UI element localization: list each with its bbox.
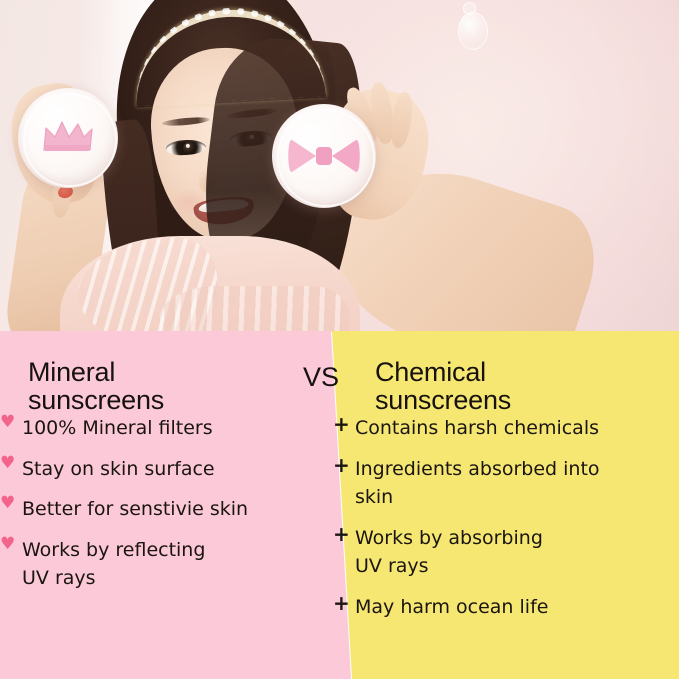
list-item: ♥ Works by reflecting UV rays [0, 536, 332, 593]
soap-bubble-small [463, 2, 476, 15]
heart-icon: ♥ [0, 414, 22, 432]
mineral-panel: Mineral sunscreens ♥ 100% Mineral filter… [0, 331, 332, 605]
heart-icon: ♥ [0, 455, 22, 473]
mineral-benefit-list: ♥ 100% Mineral filters ♥ Stay on skin su… [0, 414, 332, 593]
list-item: + Works by absorbing UV rays [333, 524, 679, 581]
dress-pleats [160, 286, 350, 332]
list-item-text: Stay on skin surface [22, 455, 215, 484]
product-photo [0, 0, 679, 332]
heart-icon: ♥ [0, 495, 22, 513]
heart-icon: ♥ [0, 536, 22, 554]
list-item: ♥ 100% Mineral filters [0, 414, 332, 443]
sunscreen-comparison-infographic: Mineral sunscreens ♥ 100% Mineral filter… [0, 0, 679, 679]
list-item-text: Contains harsh chemicals [355, 414, 599, 443]
list-item: + Ingredients absorbed into skin [333, 455, 679, 512]
plus-icon: + [333, 524, 355, 545]
list-item-text: Works by reflecting UV rays [22, 536, 205, 593]
list-item-text: May harm ocean life [355, 593, 548, 622]
list-item-text: Ingredients absorbed into skin [355, 455, 600, 512]
chemical-drawback-list: + Contains harsh chemicals + Ingredients… [333, 414, 679, 621]
list-item-text: 100% Mineral filters [22, 414, 213, 443]
comparison-section: Mineral sunscreens ♥ 100% Mineral filter… [0, 331, 679, 679]
list-item: + Contains harsh chemicals [333, 414, 679, 443]
pupil [183, 141, 197, 155]
list-item-text: Works by absorbing UV rays [355, 524, 543, 581]
list-item: ♥ Better for senstivie skin [0, 495, 332, 524]
soap-bubble [458, 12, 488, 50]
list-item: ♥ Stay on skin surface [0, 455, 332, 484]
plus-icon: + [333, 414, 355, 435]
chemical-panel-title: Chemical sunscreens [375, 358, 679, 414]
plus-icon: + [333, 593, 355, 614]
vs-divider-label: VS [303, 362, 339, 393]
sunscreen-compact-crown [18, 88, 118, 188]
list-item-text: Better for senstivie skin [22, 495, 248, 524]
list-item: + May harm ocean life [333, 593, 679, 622]
bow-icon [286, 136, 362, 176]
chemical-panel: Chemical sunscreens + Contains harsh che… [333, 331, 679, 633]
plus-icon: + [333, 455, 355, 476]
sunscreen-compact-bow [272, 104, 376, 208]
mineral-panel-title: Mineral sunscreens [28, 358, 332, 414]
crown-icon [40, 118, 96, 154]
